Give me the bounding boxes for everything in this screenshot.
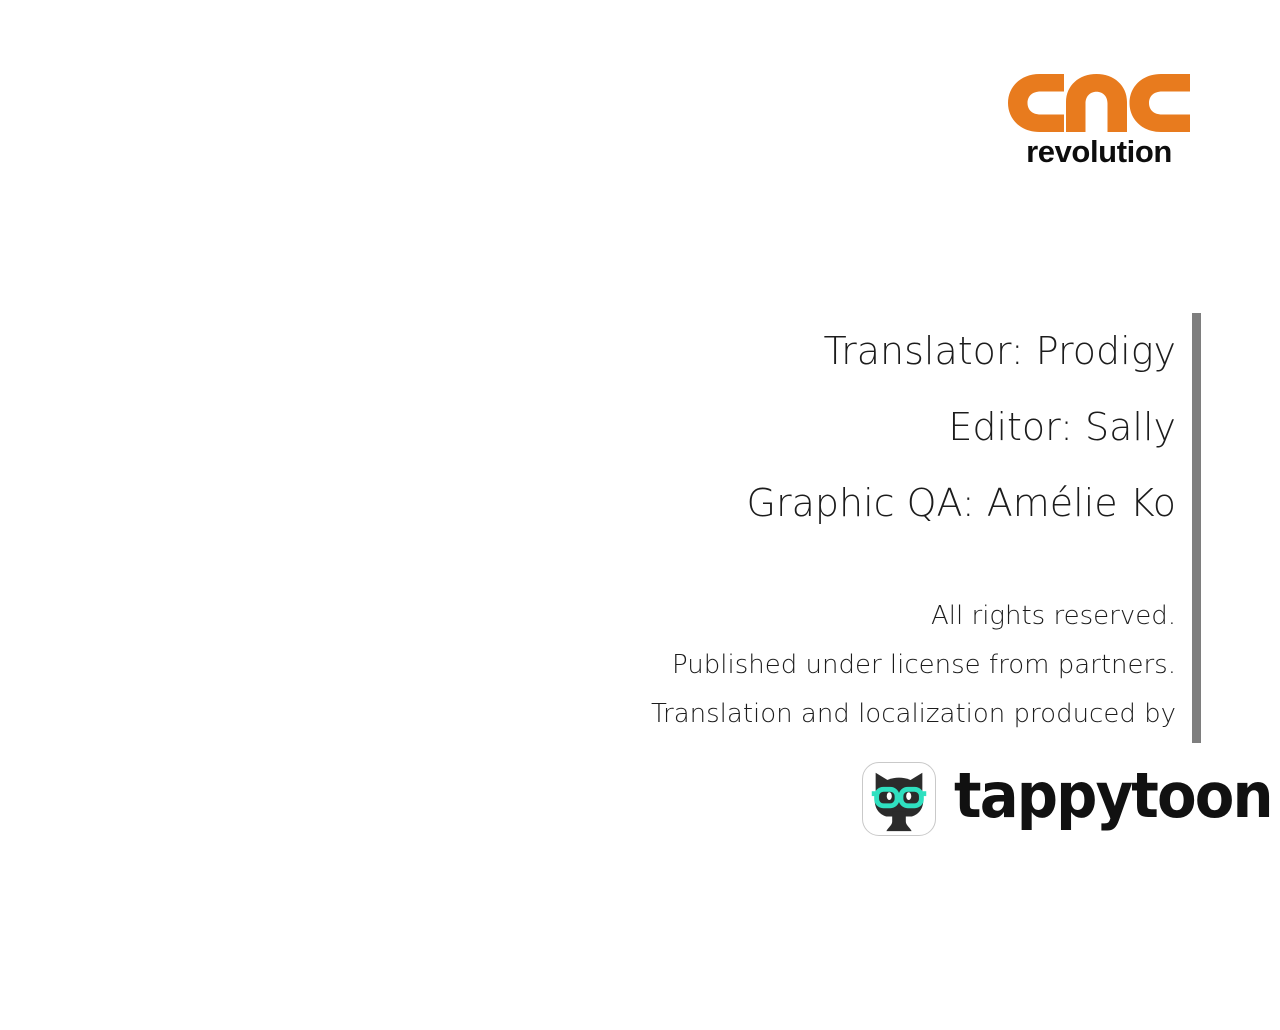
legal-line-rights: All rights reserved.	[0, 592, 1176, 641]
legal-line-license: Published under license from partners.	[0, 641, 1176, 690]
publisher-logo: revolution	[1006, 72, 1192, 167]
vertical-divider	[1192, 313, 1201, 743]
publisher-logo-wordmark: revolution	[1006, 136, 1192, 167]
legal-notice-block: All rights reserved. Published under lic…	[0, 592, 1182, 739]
tappytoon-wordmark: tappytoon	[954, 765, 1272, 833]
tappytoon-cat-icon	[862, 762, 936, 836]
legal-line-localization: Translation and localization produced by	[0, 690, 1176, 739]
cnc-logo-mark	[1006, 72, 1192, 134]
tappytoon-logo: tappytoon	[862, 762, 1280, 836]
credits-block: Translator: Prodigy Editor: Sally Graphi…	[0, 313, 1182, 541]
credit-line-editor: Editor: Sally	[0, 389, 1176, 465]
credit-line-graphic-qa: Graphic QA: Amélie Ko	[0, 465, 1176, 541]
credit-line-translator: Translator: Prodigy	[0, 313, 1176, 389]
